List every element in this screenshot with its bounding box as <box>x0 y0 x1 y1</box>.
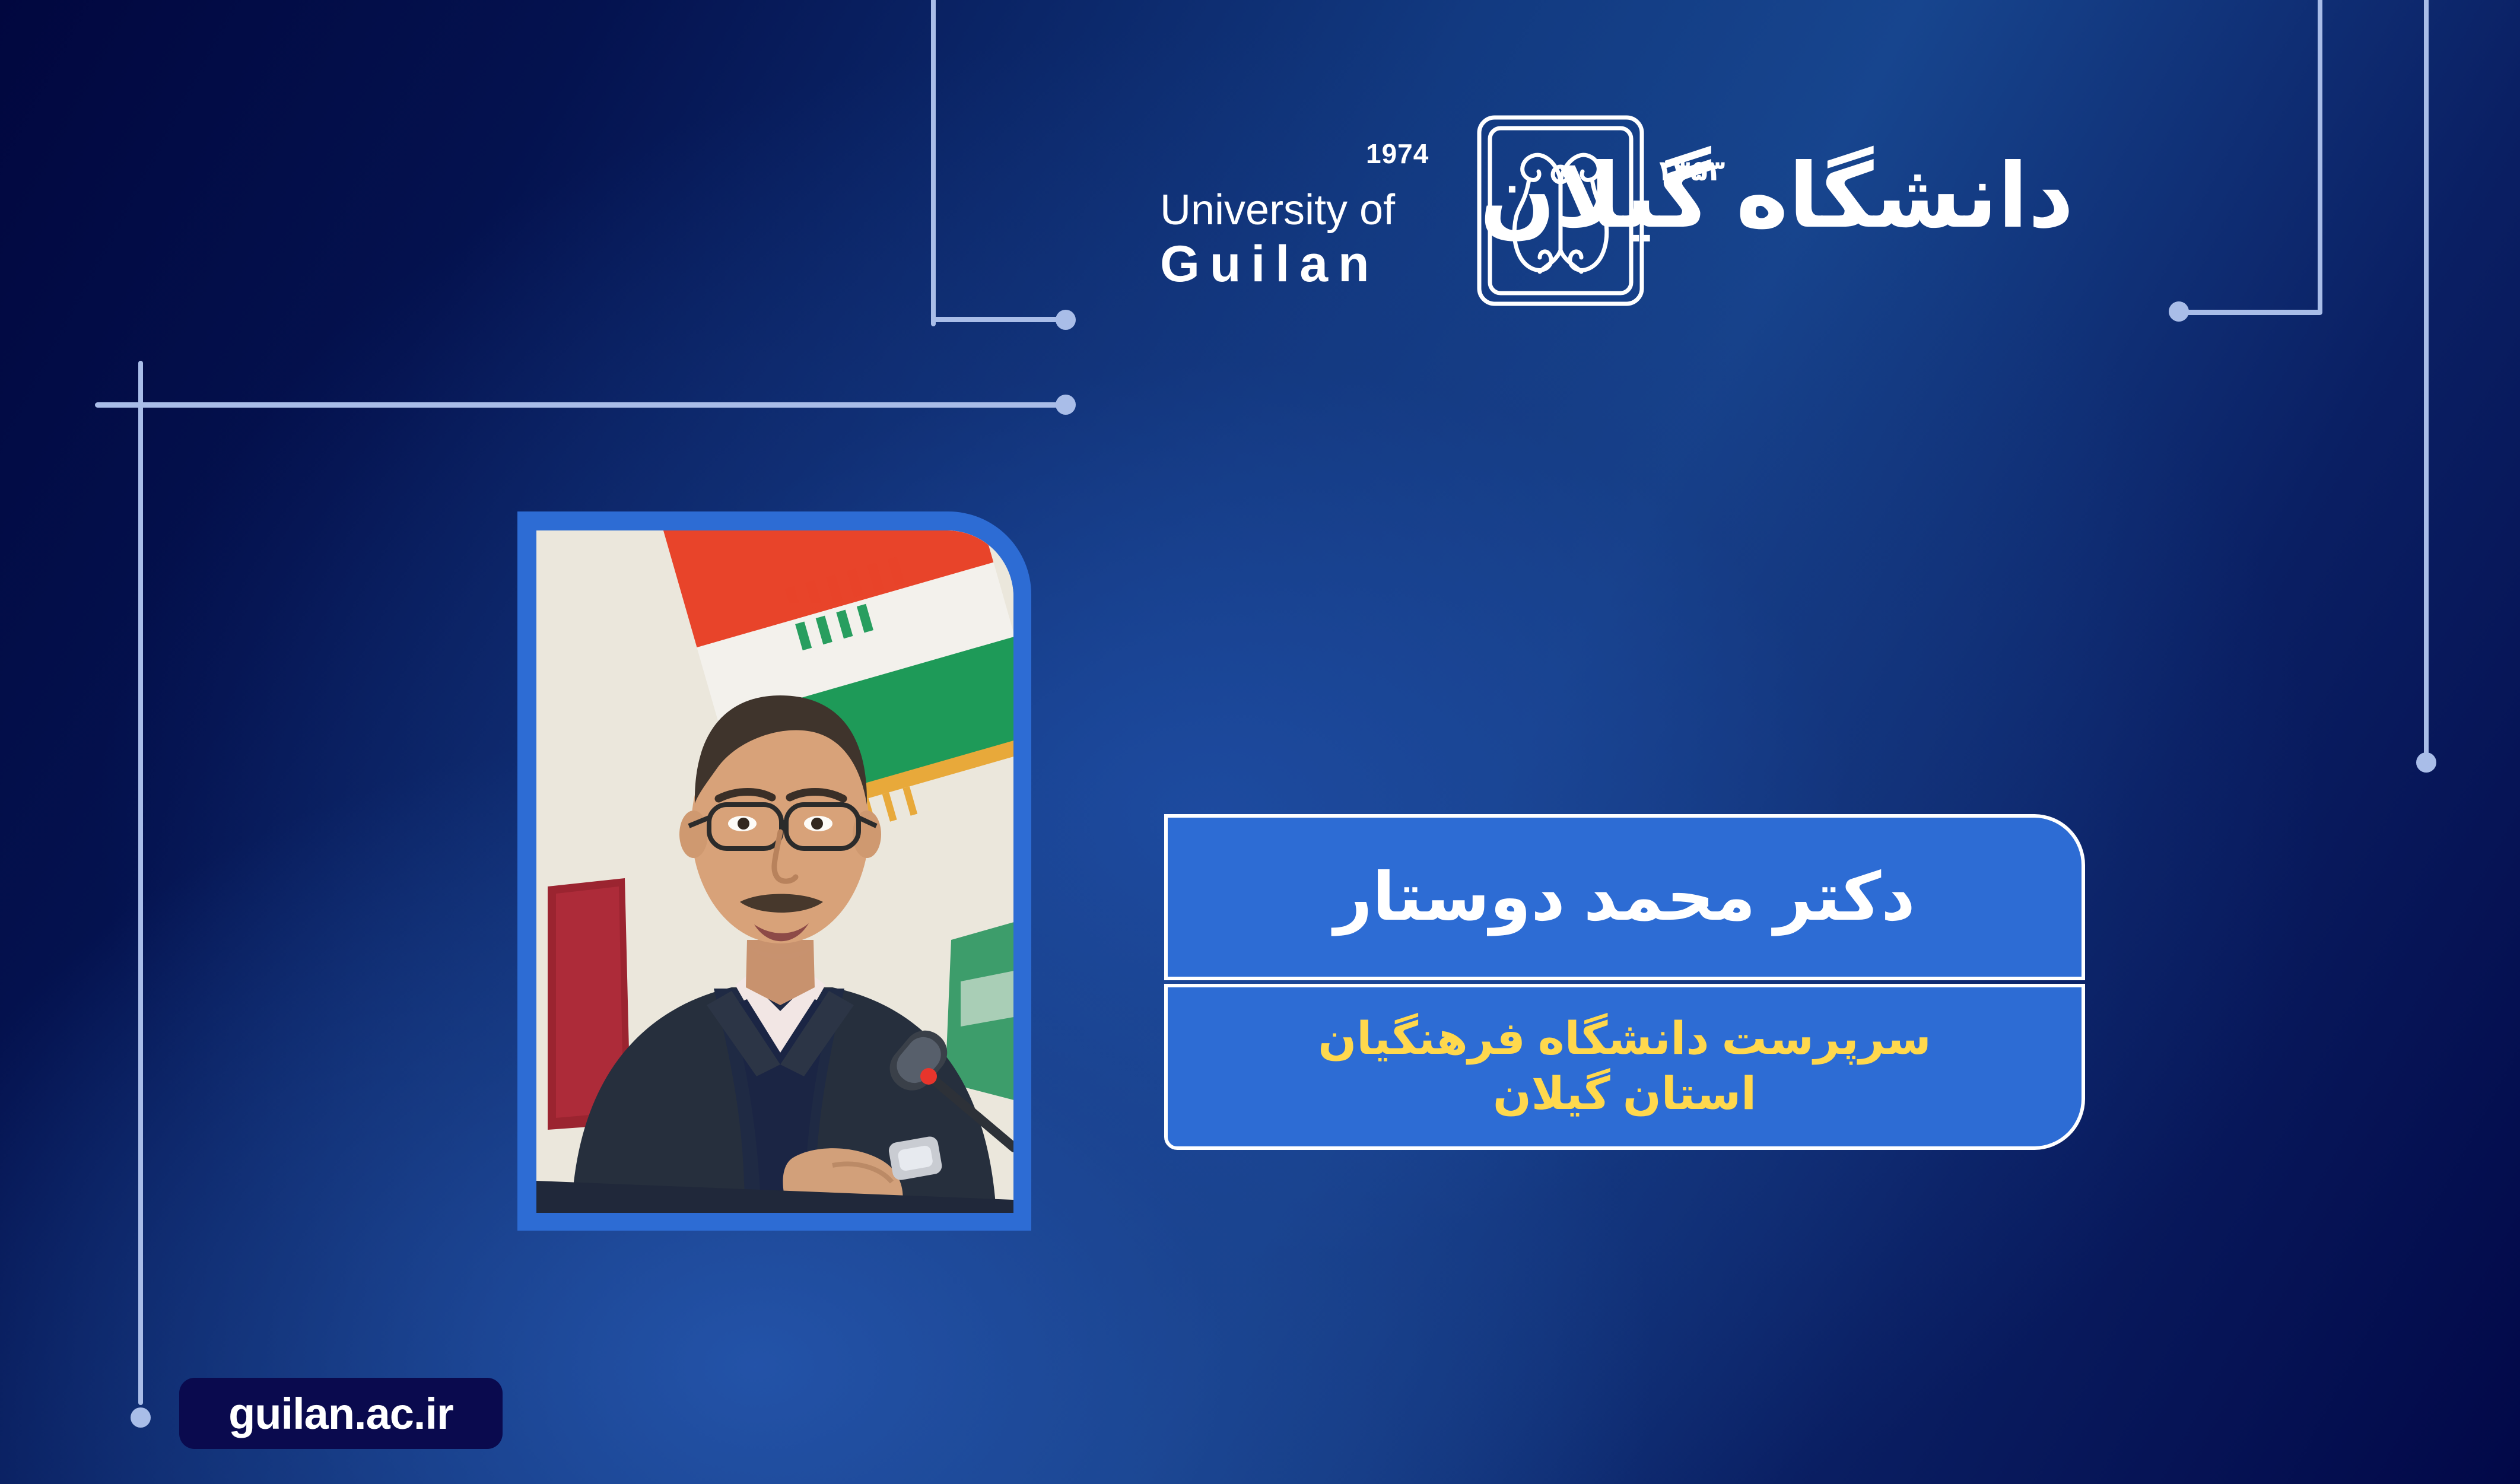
portrait-frame <box>517 511 1031 1231</box>
logo-english-line1: University of <box>1160 189 1439 232</box>
portrait-photo <box>536 530 1013 1213</box>
portrait-illustration <box>536 530 1013 1213</box>
person-name-banner: دکتر محمد دوستار <box>1164 814 2085 980</box>
person-title-line2: استان گیلان <box>1493 1067 1756 1122</box>
person-title-banner: سرپرست دانشگاه فرهنگیان استان گیلان <box>1164 984 2085 1150</box>
poster-canvas: 1974 University of Guilan ۱۳۵۳ دانشگاه گ… <box>0 0 2520 1484</box>
decor-line-vertical-far-right <box>2424 0 2429 760</box>
logo-persian-name: دانشگاه گیلان <box>1658 107 2074 285</box>
decor-line-horizontal-right <box>2184 310 2322 315</box>
person-title-line1: سرپرست دانشگاه فرهنگیان <box>1318 1012 1931 1067</box>
decor-dot-upper <box>1056 310 1076 330</box>
logo-english-line2: Guilan <box>1160 236 1439 293</box>
decor-dot-bottom-left <box>131 1407 151 1428</box>
decor-dot-far-right <box>2416 752 2436 773</box>
logo-year-gregorian: 1974 <box>1366 138 1429 170</box>
website-url: guilan.ac.ir <box>228 1388 453 1439</box>
decor-line-vertical-right-short <box>2318 0 2322 314</box>
decor-line-horizontal-lower <box>95 402 1074 408</box>
logo-english-name: University of Guilan <box>1160 189 1439 293</box>
decor-line-vertical-top-mid <box>931 0 936 326</box>
website-badge[interactable]: guilan.ac.ir <box>179 1378 503 1449</box>
decor-line-horizontal-upper <box>931 317 1072 322</box>
decor-line-vertical-left <box>138 361 143 1405</box>
decor-dot-right <box>2169 301 2189 322</box>
person-name: دکتر محمد دوستار <box>1334 864 1915 930</box>
university-logo: 1974 University of Guilan ۱۳۵۳ دانشگاه گ… <box>1160 178 2086 356</box>
decor-dot-lower-left-row <box>1056 395 1076 415</box>
